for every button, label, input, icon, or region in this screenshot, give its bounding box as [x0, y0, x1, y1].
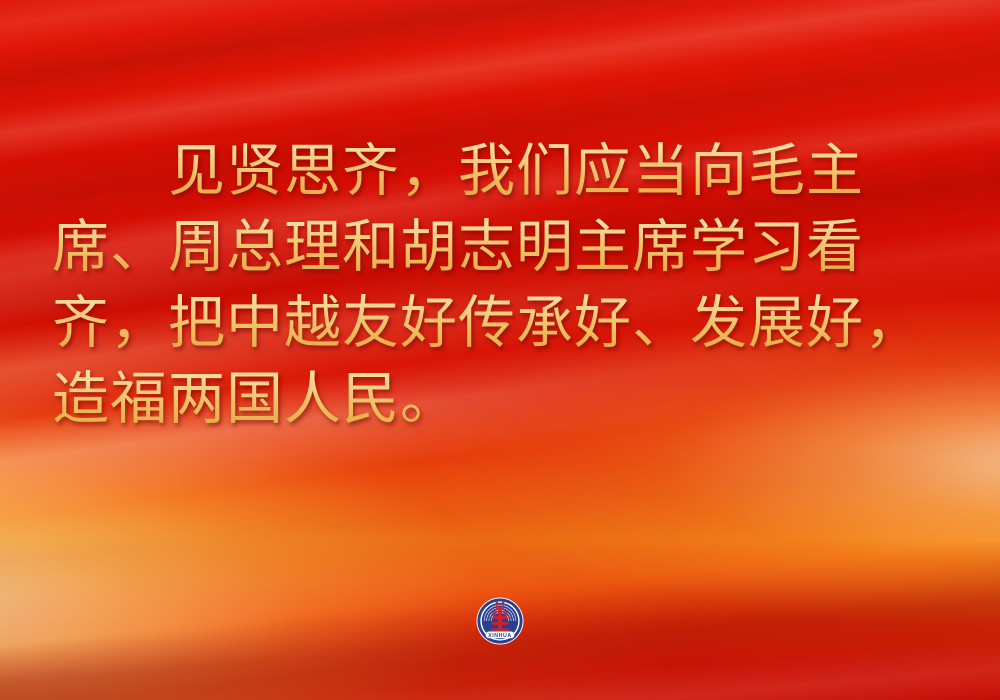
quote-text-block: 见贤思齐，我们应当向毛主 席、周总理和胡志明主席学习看 齐，把中越友好传承好、发… — [52, 134, 952, 438]
quote-line-3: 齐，把中越友好传承好、发展好， — [52, 286, 952, 362]
quote-line-2: 席、周总理和胡志明主席学习看 — [52, 210, 952, 286]
xinhua-news-agency-logo: XINHUA — [476, 597, 524, 645]
quote-line-1: 见贤思齐，我们应当向毛主 — [52, 134, 952, 210]
logo-wordmark: XINHUA — [488, 633, 512, 639]
quote-card: 见贤思齐，我们应当向毛主 席、周总理和胡志明主席学习看 齐，把中越友好传承好、发… — [0, 0, 1000, 700]
quote-line-4: 造福两国人民。 — [52, 362, 952, 438]
